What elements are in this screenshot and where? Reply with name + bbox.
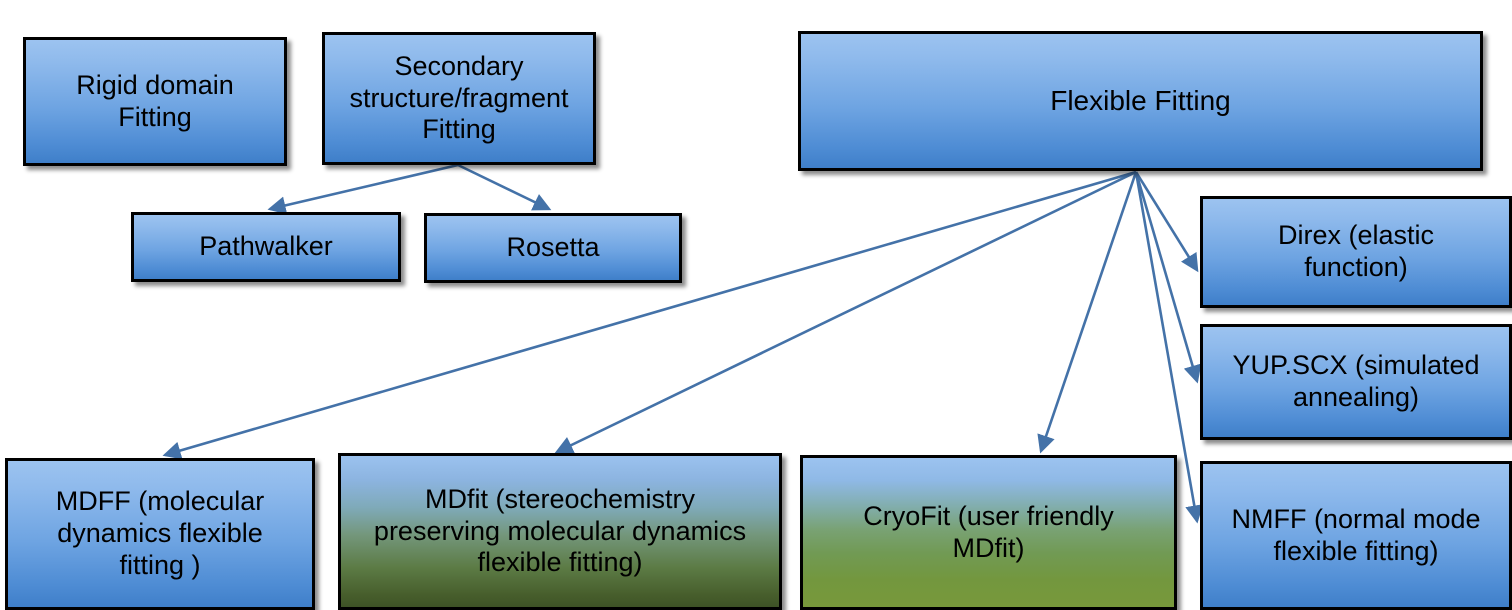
node-label: MDfit (stereochemistry preserving molecu… [374, 484, 746, 580]
node-secondary-structure-fitting[interactable]: Secondary structure/fragment Fitting [322, 32, 596, 165]
flexible-to-cryofit-arrow [1041, 172, 1136, 451]
node-label: Flexible Fitting [1050, 84, 1231, 117]
flexible-to-direx-arrow [1136, 172, 1197, 270]
node-label: Direx (elastic function) [1278, 220, 1434, 284]
node-label: Pathwalker [199, 231, 333, 263]
node-direx[interactable]: Direx (elastic function) [1200, 196, 1512, 308]
node-label: Rigid domain Fitting [76, 70, 234, 134]
node-pathwalker[interactable]: Pathwalker [131, 212, 401, 282]
node-label: Secondary structure/fragment Fitting [349, 51, 568, 147]
node-label: NMFF (normal mode flexible fitting) [1231, 504, 1480, 568]
node-label: Rosetta [506, 232, 599, 264]
node-rosetta[interactable]: Rosetta [424, 213, 682, 283]
node-cryofit[interactable]: CryoFit (user friendly MDfit) [800, 455, 1177, 610]
node-mdff[interactable]: MDFF (molecular dynamics flexible fittin… [5, 458, 315, 610]
node-label: CryoFit (user friendly MDfit) [863, 501, 1114, 565]
node-mdfit[interactable]: MDfit (stereochemistry preserving molecu… [338, 453, 782, 610]
node-label: MDFF (molecular dynamics flexible fittin… [56, 486, 265, 582]
node-flexible-fitting[interactable]: Flexible Fitting [798, 31, 1483, 171]
fitting-methods-diagram: Rigid domain Fitting Secondary structure… [0, 0, 1512, 610]
secondary-to-rosetta-arrow [458, 165, 549, 209]
node-rigid-domain-fitting[interactable]: Rigid domain Fitting [23, 37, 287, 166]
node-nmff[interactable]: NMFF (normal mode flexible fitting) [1200, 461, 1512, 610]
secondary-to-pathwalker-arrow [270, 165, 458, 209]
flexible-to-yupscx-arrow [1136, 172, 1197, 381]
node-yupscx[interactable]: YUP.SCX (simulated annealing) [1200, 324, 1512, 440]
node-label: YUP.SCX (simulated annealing) [1232, 350, 1479, 414]
